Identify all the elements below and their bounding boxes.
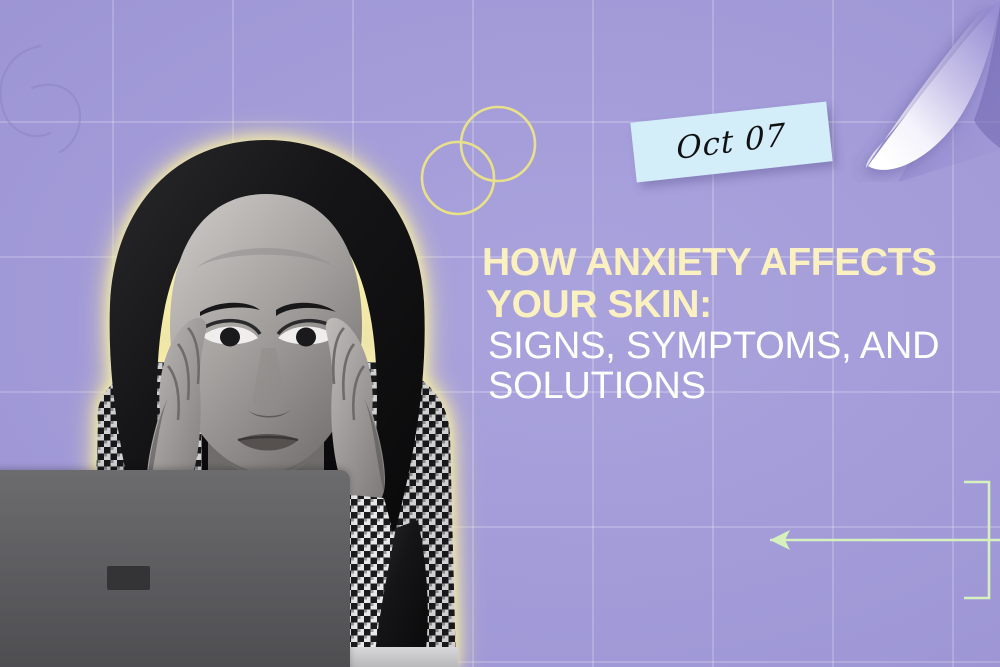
date-badge: Oct 07 (630, 102, 832, 183)
page-title: HOW ANXIETY AFFECTS YOUR SKIN: SIGNS, SY… (482, 243, 994, 408)
laptop-logo-icon (107, 566, 150, 590)
headline-line-2: YOUR SKIN: (486, 285, 994, 325)
blog-banner: Oct 07 HOW ANXIETY AFFECTS YOUR SKIN: SI… (0, 0, 1000, 667)
spiral-swirl-icon (0, 44, 122, 160)
headline-line-1: HOW ANXIETY AFFECTS (482, 243, 994, 283)
headline-line-4: SOLUTIONS (488, 367, 994, 406)
overlapping-circles-icon (414, 102, 544, 220)
headline-line-3: SIGNS, SYMPTOMS, AND (488, 327, 994, 366)
left-arrow-bracket-icon (752, 460, 1000, 620)
date-badge-label: Oct 07 (676, 117, 786, 167)
laptop-lid (0, 470, 350, 667)
